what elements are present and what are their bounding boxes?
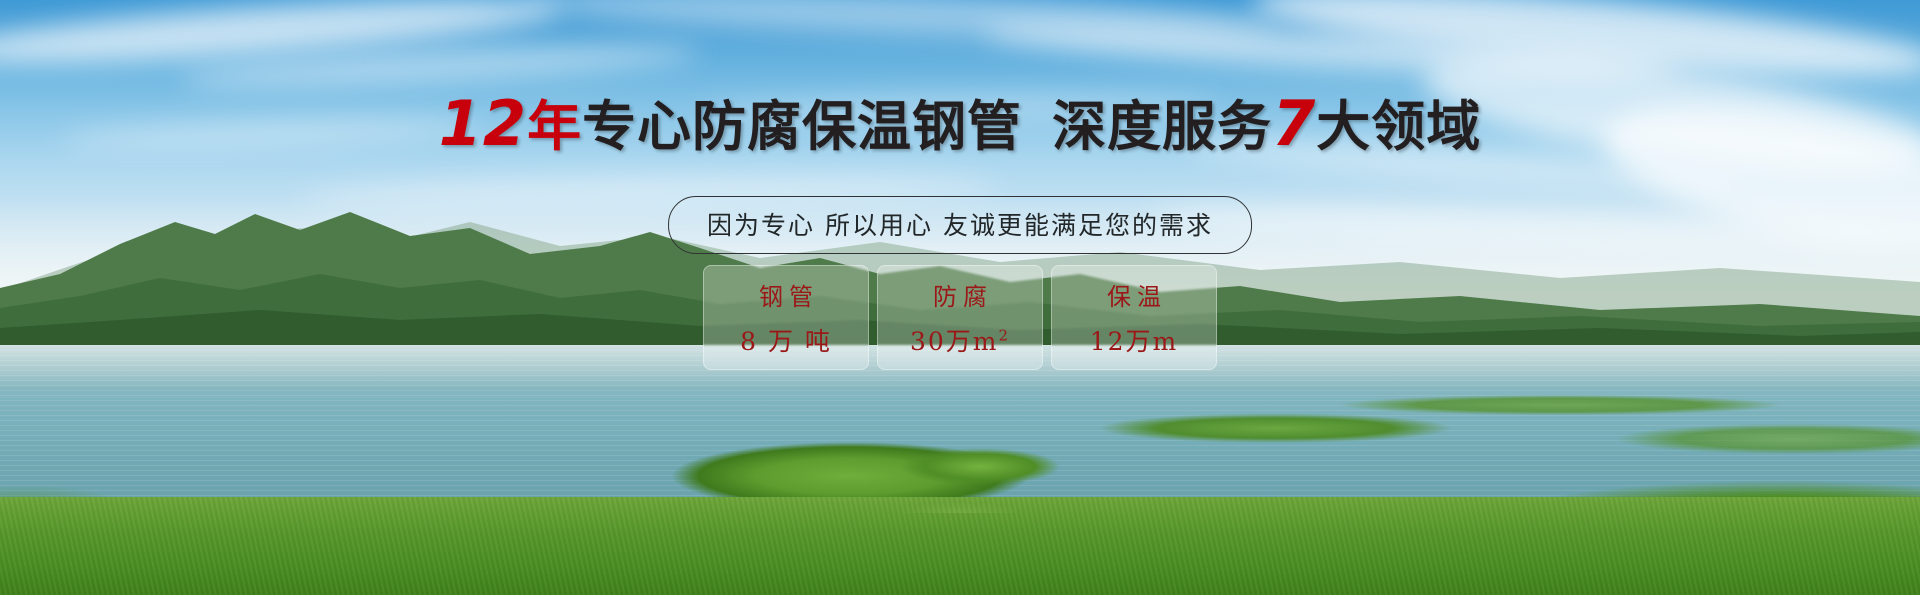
stat-card-anticorrosion[interactable]: 防腐 30万m2 [877, 265, 1043, 370]
subtitle-pill: 因为专心 所以用心 友诚更能满足您的需求 [668, 196, 1252, 254]
headline-year-unit: 年 [527, 95, 582, 158]
page-title: 12年专心防腐保温钢管深度服务7大领域 [0, 82, 1920, 161]
stat-card-steel-pipe[interactable]: 钢管 8 万 吨 [703, 265, 869, 370]
stat-card-value-text: 8 万 吨 [740, 327, 832, 356]
banner-content: 12年专心防腐保温钢管深度服务7大领域 因为专心 所以用心 友诚更能满足您的需求… [0, 0, 1920, 595]
headline-main-second-right: 大领域 [1316, 95, 1481, 158]
stat-card-value-text: 30万m [910, 327, 999, 356]
stats-card-group: 钢管 8 万 吨 防腐 30万m2 保温 12万m [703, 265, 1217, 370]
stat-card-label: 钢管 [753, 277, 819, 312]
headline-main-second-left: 深度服务 [1052, 95, 1272, 158]
headline-main-first: 专心防腐保温钢管 [582, 95, 1022, 158]
hero-banner: 12年专心防腐保温钢管深度服务7大领域 因为专心 所以用心 友诚更能满足您的需求… [0, 0, 1920, 595]
stat-card-value-superscript: 2 [998, 327, 1010, 345]
stat-card-label: 防腐 [927, 277, 993, 312]
stat-card-label: 保温 [1101, 277, 1167, 312]
subtitle-text: 因为专心 所以用心 友诚更能满足您的需求 [707, 211, 1213, 240]
stat-card-value: 12万m [1090, 322, 1179, 358]
stat-card-value-text: 12万m [1090, 327, 1179, 356]
headline-year-number: 12 [439, 87, 527, 160]
stat-card-value: 30万m2 [910, 322, 1010, 358]
stat-card-value: 8 万 吨 [740, 322, 832, 358]
headline-field-count: 7 [1272, 87, 1316, 160]
stat-card-insulation[interactable]: 保温 12万m [1051, 265, 1217, 370]
